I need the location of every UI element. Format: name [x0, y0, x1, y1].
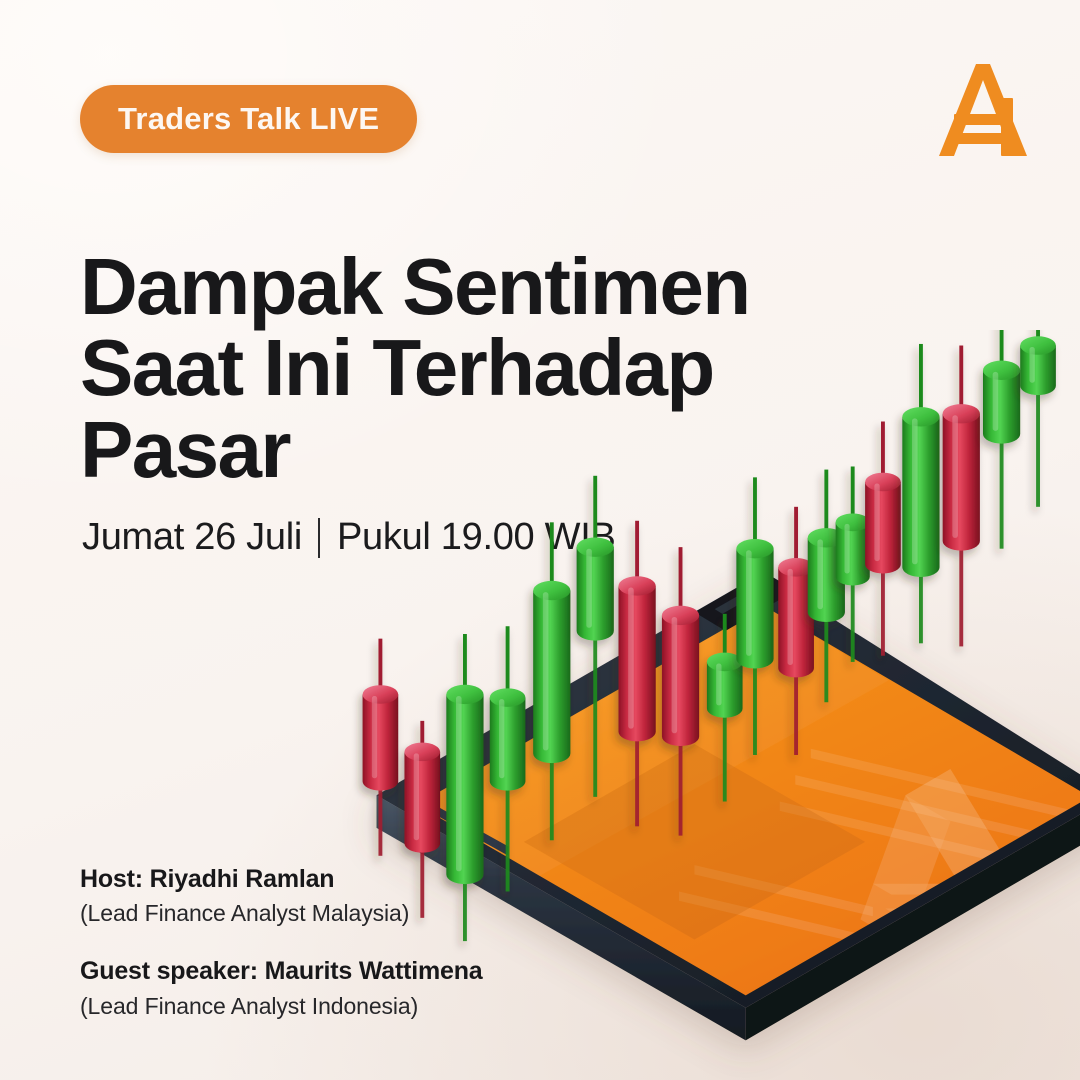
candle-top-cap — [836, 513, 870, 531]
candle-highlight — [586, 549, 592, 628]
candle-body — [446, 694, 483, 884]
wick-lower — [723, 704, 727, 802]
candle-highlight — [845, 524, 850, 574]
wick-lower — [593, 626, 597, 797]
candle-highlight — [716, 663, 721, 705]
candle-top-cap — [363, 685, 399, 704]
candle-body — [533, 591, 570, 764]
candle-highlight — [456, 696, 462, 871]
candle-body — [736, 549, 773, 669]
candlestick-14-up — [902, 344, 939, 643]
candle-top-cap — [943, 404, 980, 423]
wick-lower — [959, 536, 963, 646]
candle-body — [902, 417, 939, 577]
candle-highlight — [993, 372, 999, 431]
candle-body — [404, 752, 440, 853]
live-badge-label: Traders Talk LIVE — [118, 101, 379, 137]
guest-role: (Lead Finance Analyst Indonesia) — [80, 991, 640, 1022]
candle-highlight — [912, 418, 918, 564]
candle-body — [865, 482, 901, 573]
candle-top-cap — [577, 537, 614, 556]
candle-top-cap — [618, 576, 655, 595]
candle-highlight — [543, 592, 549, 750]
candle-top-cap — [983, 361, 1020, 380]
candle-highlight — [788, 569, 793, 665]
headline-line-1: Dampak Sentimen — [80, 246, 840, 328]
candle-highlight — [628, 587, 634, 728]
candle-top-cap — [533, 581, 570, 600]
candlestick-13-down — [865, 422, 901, 656]
candlestick-16-up — [983, 330, 1020, 549]
schedule-separator — [318, 518, 320, 558]
candle-highlight — [746, 550, 752, 655]
logo-glyph — [939, 64, 1027, 156]
candle-body — [836, 522, 870, 585]
live-badge[interactable]: Traders Talk LIVE — [80, 85, 417, 153]
candle-top-cap — [662, 606, 699, 625]
candle-top-cap — [446, 685, 483, 704]
wick-lower — [635, 727, 639, 826]
candle-body — [577, 547, 614, 640]
candle-highlight — [372, 696, 377, 778]
host-role: (Lead Finance Analyst Malaysia) — [80, 898, 640, 929]
wick-lower — [1000, 429, 1004, 548]
candle-top-cap — [404, 743, 440, 762]
event-date: Jumat 26 Juli — [82, 516, 302, 559]
speaker-credits: Host: Riyadhi Ramlan (Lead Finance Analy… — [80, 863, 640, 1022]
wick-lower — [881, 560, 885, 656]
candle-highlight — [414, 753, 419, 840]
candle-highlight — [499, 699, 504, 778]
wick-lower — [1036, 381, 1040, 507]
wick-lower — [679, 732, 683, 836]
candle-top-cap — [1020, 336, 1056, 355]
poster-canvas: Traders Talk LIVE Dampak Sentimen Saat I… — [0, 0, 1080, 1080]
candle-body — [490, 698, 526, 791]
candle-top-cap — [490, 688, 526, 707]
host-name: Host: Riyadhi Ramlan — [80, 863, 640, 896]
candle-highlight — [874, 484, 879, 562]
candle-body — [618, 586, 655, 741]
candle-highlight — [817, 539, 823, 609]
candlestick-17-up — [1020, 330, 1056, 507]
candlestick-15-down — [943, 346, 980, 647]
candle-top-cap — [902, 407, 939, 426]
candle-top-cap — [736, 539, 773, 558]
candle-highlight — [952, 415, 958, 538]
wick-lower — [753, 654, 757, 755]
brand-a-currency-logo — [932, 58, 1032, 162]
candle-highlight — [1029, 347, 1034, 383]
guest-name: Guest speaker: Maurits Wattimena — [80, 955, 640, 988]
candle-top-cap — [865, 473, 901, 492]
candle-body — [983, 370, 1020, 443]
brand-logo-icon — [932, 58, 1032, 162]
candle-body — [943, 414, 980, 551]
candle-highlight — [672, 617, 678, 733]
credit-host: Host: Riyadhi Ramlan (Lead Finance Analy… — [80, 863, 640, 930]
candle-body — [363, 694, 399, 790]
credit-guest: Guest speaker: Maurits Wattimena (Lead F… — [80, 955, 640, 1022]
candle-body — [662, 615, 699, 746]
